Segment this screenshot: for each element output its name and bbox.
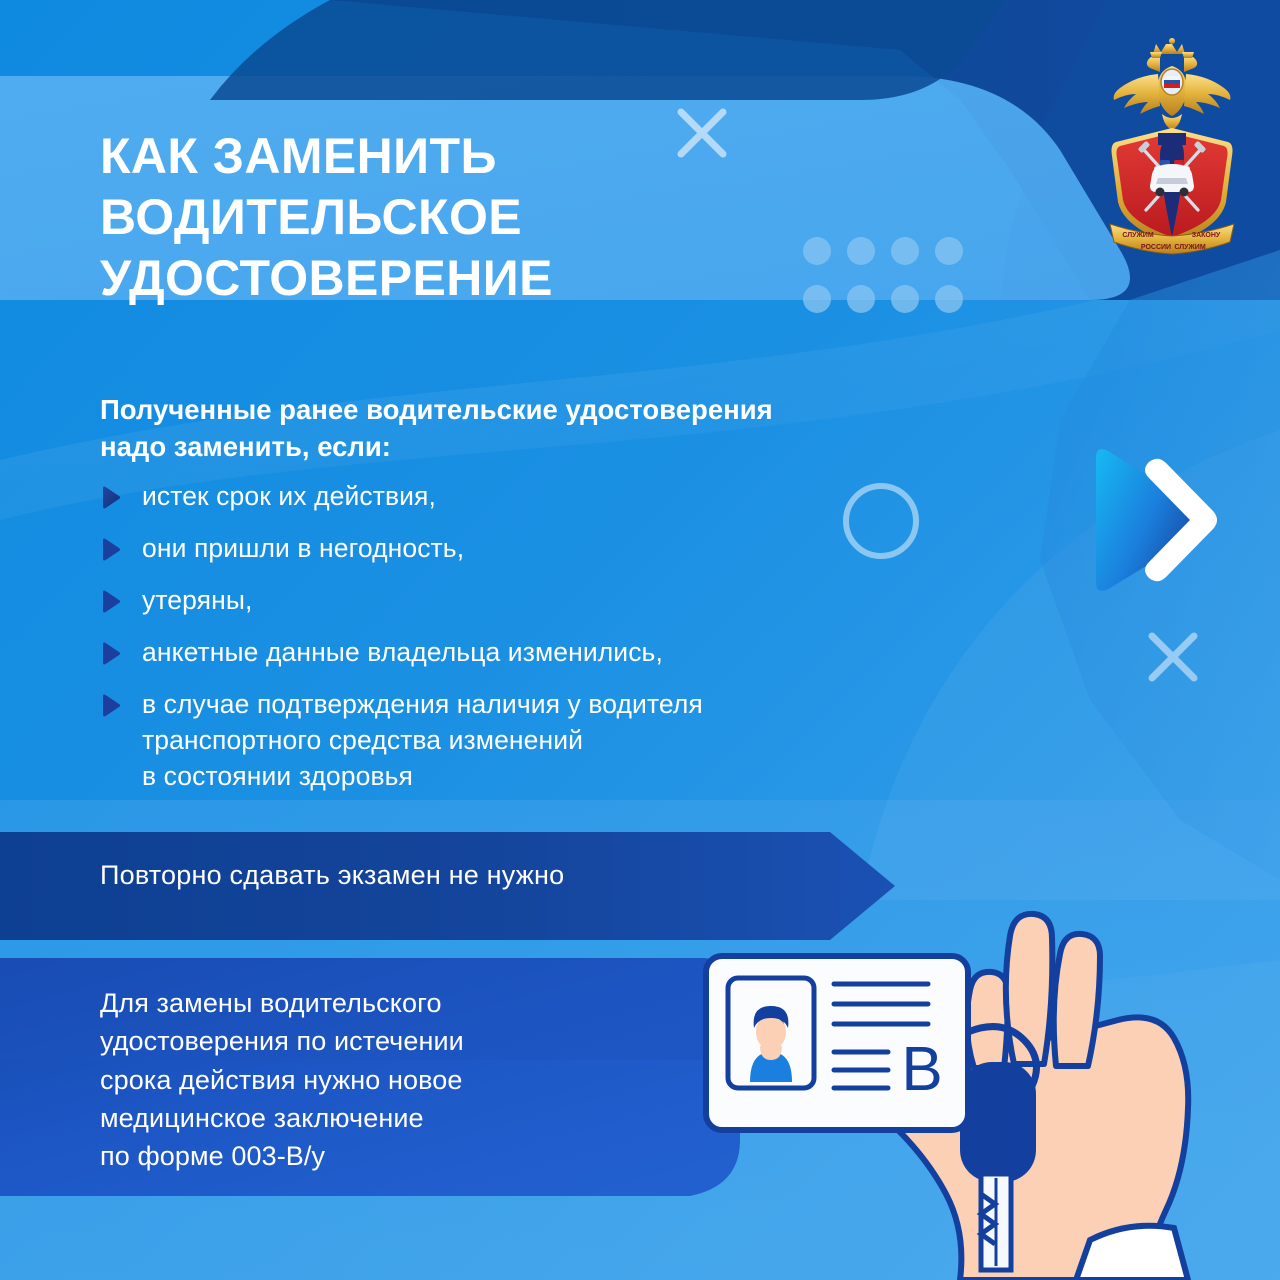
page-title: КАК ЗАМЕНИТЬ ВОДИТЕЛЬСКОЕ УДОСТОВЕРЕНИЕ: [100, 126, 740, 309]
triangle-bullet-icon: [100, 693, 122, 718]
bottom-note: Для замены водительского удостоверения п…: [100, 984, 680, 1176]
lead-paragraph: Полученные ранее водительские удостовере…: [100, 392, 1050, 465]
triangle-bullet-icon: [100, 589, 122, 614]
list-item: утеряны,: [100, 582, 1060, 618]
list-item-text: анкетные данные владельца изменились,: [142, 634, 663, 670]
triangle-bullet-icon: [100, 641, 122, 666]
license-category-letter: B: [901, 1035, 942, 1104]
triangle-bullet-icon: [100, 537, 122, 562]
list-item: они пришли в негодность,: [100, 530, 1060, 566]
ribbon-text-rossii: РОССИИ: [1141, 244, 1171, 251]
infographic-poster: КАК ЗАМЕНИТЬ ВОДИТЕЛЬСКОЕ УДОСТОВЕРЕНИЕ: [0, 0, 1280, 1280]
driver-license-card: B: [706, 956, 968, 1130]
list-item-text: утеряны,: [142, 582, 252, 618]
triangle-bullet-icon: [100, 485, 122, 510]
double-headed-eagle: [1114, 38, 1231, 130]
list-item-text: они пришли в негодность,: [142, 530, 464, 566]
requirements-list: истек срок их действия, они пришли в нег…: [100, 478, 1060, 810]
hand-license-key-illustration: B: [690, 770, 1280, 1280]
ribbon-text-zakonu: ЗАКОНУ: [1192, 232, 1221, 239]
list-item-text: истек срок их действия,: [142, 478, 436, 514]
mvd-gibdd-emblem: СЛУЖИМ ЗАКОНУ РОССИИ СЛУЖИМ: [1086, 32, 1258, 262]
banner-note: Повторно сдавать экзамен не нужно: [100, 860, 564, 891]
police-shield: [1112, 128, 1233, 244]
list-item: анкетные данные владельца изменились,: [100, 634, 1060, 670]
ribbon-text-sluzhim: СЛУЖИМ: [1122, 232, 1154, 239]
list-item-text: в случае подтверждения наличия у водител…: [142, 686, 703, 794]
ribbon-text-sluzhim-2: СЛУЖИМ: [1174, 244, 1206, 251]
list-item: истек срок их действия,: [100, 478, 1060, 514]
